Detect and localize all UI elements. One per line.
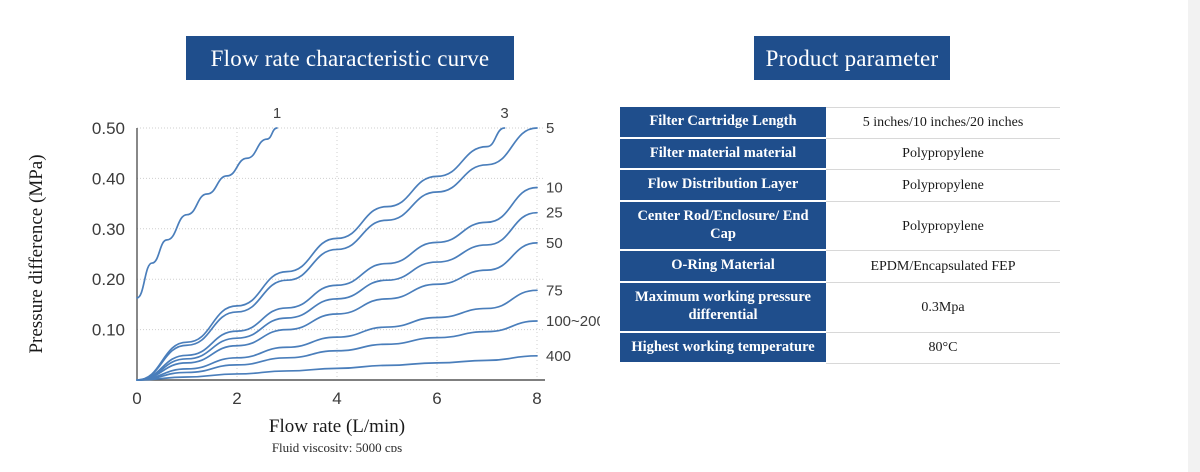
y-tick-label: 0.30 xyxy=(92,220,125,239)
table-row: O-Ring MaterialEPDM/Encapsulated FEP xyxy=(620,251,1060,283)
table-row: Center Rod/Enclosure/ End CapPolypropyle… xyxy=(620,202,1060,251)
table-title-text: Product parameter xyxy=(766,47,939,70)
table-row: Filter material materialPolypropylene xyxy=(620,139,1060,171)
param-label: Center Rod/Enclosure/ End Cap xyxy=(620,202,826,251)
x-tick-label: 0 xyxy=(132,389,141,408)
series-label: 75 xyxy=(546,282,563,299)
y-axis-tick-labels: 0.100.200.300.400.50 xyxy=(92,119,125,340)
product-parameter-table: Filter Cartridge Length5 inches/10 inche… xyxy=(620,107,1060,364)
chart-svg: 0.100.200.300.400.50 02468 1351025507510… xyxy=(0,92,600,452)
y-tick-label: 0.20 xyxy=(92,270,125,289)
table-row: Flow Distribution LayerPolypropylene xyxy=(620,170,1060,202)
page-root: Flow rate characteristic curve Product p… xyxy=(0,0,1200,472)
product-parameter-table-body: Filter Cartridge Length5 inches/10 inche… xyxy=(620,107,1060,364)
chart-curves xyxy=(137,128,537,380)
series-label: 3 xyxy=(500,105,508,122)
axis-titles: Flow rate (L/min)Fluid viscosity: 5000 c… xyxy=(26,154,405,452)
flow-rate-chart: 0.100.200.300.400.50 02468 1351025507510… xyxy=(0,92,600,452)
param-label: O-Ring Material xyxy=(620,251,826,283)
table-row: Maximum working pressure differential0.3… xyxy=(620,283,1060,332)
param-value: Polypropylene xyxy=(826,202,1060,251)
series-label: 50 xyxy=(546,235,563,252)
x-axis-title: Flow rate (L/min) xyxy=(269,416,405,437)
y-axis-title: Pressure difference (MPa) xyxy=(26,154,47,353)
param-label: Maximum working pressure differential xyxy=(620,283,826,332)
table-title-banner: Product parameter xyxy=(754,36,950,80)
param-value: EPDM/Encapsulated FEP xyxy=(826,251,1060,283)
x-tick-label: 6 xyxy=(432,389,441,408)
param-value: 5 inches/10 inches/20 inches xyxy=(826,107,1060,139)
x-tick-label: 8 xyxy=(532,389,541,408)
x-axis-tick-labels: 02468 xyxy=(132,389,541,408)
param-label: Filter material material xyxy=(620,139,826,171)
y-tick-label: 0.50 xyxy=(92,119,125,138)
chart-title-text: Flow rate characteristic curve xyxy=(211,47,490,70)
x-tick-label: 2 xyxy=(232,389,241,408)
series-labels: 13510255075100~200400 xyxy=(273,105,600,365)
param-value: 0.3Mpa xyxy=(826,283,1060,332)
curve-series-3 xyxy=(137,128,505,380)
series-label: 10 xyxy=(546,179,563,196)
y-tick-label: 0.40 xyxy=(92,169,125,188)
curve-series-5 xyxy=(137,128,537,380)
series-label: 100~200 xyxy=(546,313,600,330)
fluid-viscosity-note: Fluid viscosity: 5000 cps xyxy=(272,440,402,452)
series-label: 400 xyxy=(546,348,571,365)
curve-series-50 xyxy=(137,243,537,380)
chart-title-banner: Flow rate characteristic curve xyxy=(186,36,514,80)
y-tick-label: 0.10 xyxy=(92,321,125,340)
curve-series-75 xyxy=(137,290,537,380)
series-label: 1 xyxy=(273,105,281,122)
series-label: 5 xyxy=(546,120,554,137)
param-value: 80°C xyxy=(826,333,1060,365)
page-edge-strip xyxy=(1188,0,1200,472)
table-row: Filter Cartridge Length5 inches/10 inche… xyxy=(620,107,1060,139)
param-label: Highest working temperature xyxy=(620,333,826,365)
series-label: 25 xyxy=(546,205,563,222)
curve-series-1 xyxy=(137,128,277,298)
x-tick-label: 4 xyxy=(332,389,341,408)
table-row: Highest working temperature80°C xyxy=(620,333,1060,365)
param-label: Flow Distribution Layer xyxy=(620,170,826,202)
param-value: Polypropylene xyxy=(826,139,1060,171)
param-label: Filter Cartridge Length xyxy=(620,107,826,139)
param-value: Polypropylene xyxy=(826,170,1060,202)
